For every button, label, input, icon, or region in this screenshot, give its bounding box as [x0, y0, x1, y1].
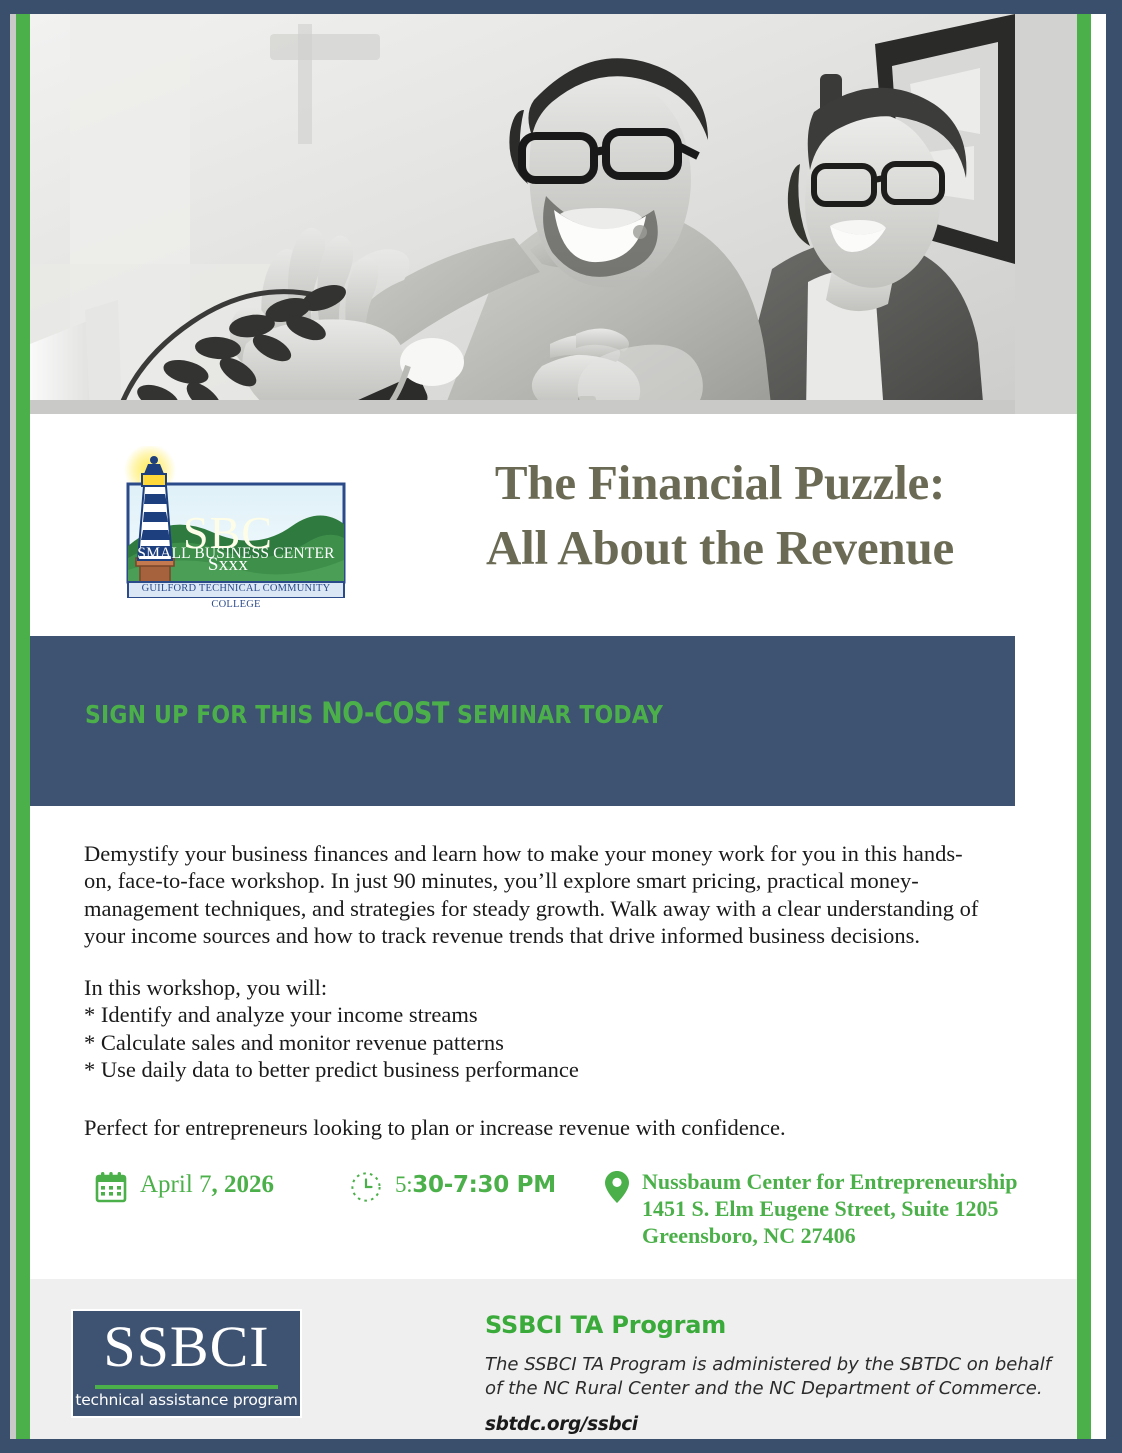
- event-date-light: April 7: [140, 1171, 212, 1198]
- page-surface: SBC Sxxx: [16, 14, 1106, 1439]
- body-closing-paragraph: Perfect for entrepreneurs looking to pla…: [84, 1114, 989, 1141]
- event-location-line-2: 1451 S. Elm Eugene Street, Suite 1205: [642, 1195, 1017, 1222]
- body-bullet-3: * Use daily data to better predict busin…: [84, 1056, 989, 1083]
- page-title-line-1: The Financial Puzzle:: [400, 450, 1040, 515]
- sbc-logo: SBC Sxxx: [102, 446, 350, 598]
- hero-right-margin: [1015, 14, 1077, 414]
- ssbci-logo-rule: [95, 1385, 278, 1389]
- sbc-logo-institution: GUILFORD TECHNICAL COMMUNITY COLLEGE: [128, 581, 344, 613]
- cta-text-highlight: NO-COST: [321, 696, 449, 730]
- body-bullet-1: * Identify and analyze your income strea…: [84, 1001, 989, 1028]
- event-location: Nussbaum Center for Entrepreneurship 145…: [604, 1168, 1017, 1249]
- hero-bottom-band: [30, 400, 1015, 414]
- body-bullet-2: * Calculate sales and monitor revenue pa…: [84, 1029, 989, 1056]
- cta-banner: SIGN UP FOR THIS NO-COST SEMINAR TODAY: [30, 636, 1015, 806]
- body-list-heading: In this workshop, you will:: [84, 974, 989, 1001]
- sbc-logo-name: SMALL BUSINESS CENTER: [128, 545, 344, 563]
- clock-icon: [349, 1170, 383, 1209]
- event-time: 5:30-7:30 PM: [349, 1170, 556, 1209]
- cta-headline: SIGN UP FOR THIS NO-COST SEMINAR TODAY: [85, 696, 663, 730]
- event-time-lead: 5:: [395, 1172, 412, 1197]
- accent-stripe-right: [1077, 14, 1091, 1439]
- body-list-block: In this workshop, you will: * Identify a…: [84, 974, 989, 1084]
- event-details: April 7, 2026 5:30-7:30 PM: [84, 1160, 1024, 1260]
- cta-text-before: SIGN UP FOR THIS: [85, 700, 321, 729]
- event-location-line-1: Nussbaum Center for Entrepreneurship: [642, 1168, 1017, 1195]
- accent-stripe-left: [16, 14, 30, 1439]
- footer-url[interactable]: sbtdc.org/ssbci: [485, 1414, 1055, 1435]
- sbc-logo-artwork: SBC Sxxx: [102, 446, 350, 598]
- hero-photo: [30, 14, 1015, 414]
- event-location-line-3: Greensboro, NC 27406: [642, 1222, 1017, 1249]
- event-date-bold: , 2026: [212, 1171, 275, 1198]
- cta-text-after: SEMINAR TODAY: [449, 700, 663, 729]
- ssbci-logo: SSBCI technical assistance program: [71, 1309, 302, 1418]
- title-band: SBC Sxxx: [30, 428, 1077, 634]
- page-title: The Financial Puzzle: All About the Reve…: [400, 450, 1040, 580]
- footer-text-block: SSBCI TA Program The SSBCI TA Program is…: [485, 1311, 1055, 1435]
- event-location-text: Nussbaum Center for Entrepreneurship 145…: [642, 1168, 1017, 1249]
- page-title-line-2: All About the Revenue: [400, 515, 1040, 580]
- accent-stripe-top-right: [1077, 14, 1091, 34]
- event-time-rest: 30-7:30 PM: [412, 1172, 556, 1198]
- body-intro-paragraph: Demystify your business finances and lea…: [84, 840, 989, 950]
- hero-photo-artwork: [30, 14, 1015, 414]
- flyer-page: SBC Sxxx: [0, 0, 1122, 1453]
- calendar-icon: [94, 1170, 128, 1209]
- event-date-text: April 7, 2026: [140, 1170, 274, 1200]
- event-date: April 7, 2026: [94, 1170, 274, 1209]
- map-pin-icon: [604, 1170, 630, 1209]
- hero-image-container: [30, 14, 1077, 414]
- ssbci-logo-wordmark: SSBCI: [73, 1317, 300, 1378]
- footer-description: The SSBCI TA Program is administered by …: [485, 1353, 1055, 1402]
- ssbci-logo-subtitle: technical assistance program: [73, 1391, 300, 1409]
- footer-title: SSBCI TA Program: [485, 1311, 1055, 1339]
- body-copy: Demystify your business finances and lea…: [84, 840, 989, 1165]
- event-time-text: 5:30-7:30 PM: [395, 1170, 556, 1200]
- footer: SSBCI technical assistance program SSBCI…: [30, 1279, 1077, 1439]
- accent-stripe-right-gap: [1091, 14, 1099, 1439]
